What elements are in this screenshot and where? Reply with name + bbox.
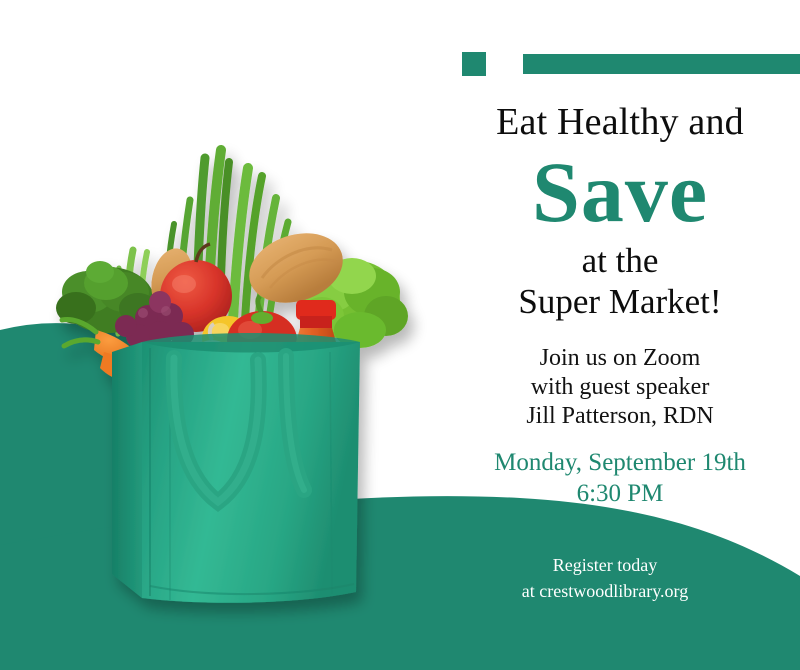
invitation-line-2: with guest speaker (440, 373, 800, 402)
register-today-label: Register today (430, 552, 780, 578)
grocery-tote-bag (112, 333, 360, 603)
flyer-poster: Eat Healthy and Save at the Super Market… (0, 0, 800, 670)
headline-save-word: Save (440, 146, 800, 238)
invitation-line-1: Join us on Zoom (440, 344, 800, 373)
accent-bar (523, 54, 800, 74)
registration-block: Register today at crestwoodlibrary.org (430, 552, 780, 604)
headline-line-3: Super Market! (440, 281, 800, 322)
headline-line-1: Eat Healthy and (440, 100, 800, 144)
registration-url[interactable]: at crestwoodlibrary.org (430, 578, 780, 604)
event-datetime-block: Monday, September 19th 6:30 PM (440, 447, 800, 509)
accent-square-icon (462, 52, 486, 76)
invitation-block: Join us on Zoom with guest speaker Jill … (440, 344, 800, 431)
event-time: 6:30 PM (440, 478, 800, 509)
event-date: Monday, September 19th (440, 447, 800, 478)
invitation-speaker-name: Jill Patterson, RDN (440, 402, 800, 431)
headline-line-2: at the (440, 240, 800, 281)
headline-block: Eat Healthy and Save at the Super Market… (440, 100, 800, 509)
